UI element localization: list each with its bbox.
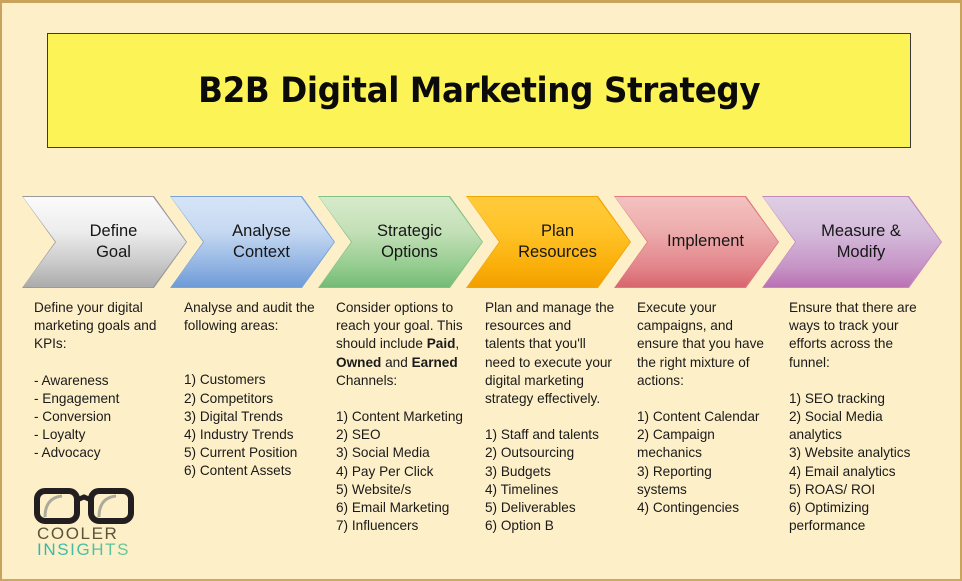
- stage-5-intro-line-1: Execute your: [637, 299, 787, 317]
- chevron-stage-6-label: Measure & Modify: [803, 221, 901, 263]
- eyeglasses-icon: COOLER INSIGHTS: [34, 487, 138, 559]
- stage-6-intro-line-3: efforts across the: [789, 335, 944, 353]
- logo-wordmark-line-2: INSIGHTS: [37, 540, 130, 559]
- list-item: analytics: [789, 426, 944, 444]
- diagram-canvas: B2B Digital Marketing Strategy Define Go…: [0, 0, 962, 581]
- stage-3-description: Consider options to reach your goal. Thi…: [336, 299, 486, 535]
- stage-5-description: Execute your campaigns, and ensure that …: [637, 299, 787, 517]
- stage-3-intro-line-1: Consider options to: [336, 299, 486, 317]
- list-item: 2) Outsourcing: [485, 444, 637, 462]
- chevron-stage-5-label: Implement: [649, 231, 744, 252]
- list-item: 6) Optimizing: [789, 499, 944, 517]
- list-item: 1) Staff and talents: [485, 426, 637, 444]
- stage-3-intro-line-3: should include Paid,: [336, 335, 486, 353]
- diagram-title-box: B2B Digital Marketing Strategy: [47, 33, 911, 148]
- stage-descriptions: Define your digital marketing goals and …: [2, 299, 962, 549]
- stage-1-intro-line-1: Define your digital: [34, 299, 184, 317]
- list-item: 5) Current Position: [184, 444, 336, 462]
- list-item: - Advocacy: [34, 444, 184, 462]
- spacer: [184, 335, 336, 371]
- chevron-stage-3-label: Strategic Options: [359, 221, 442, 263]
- list-item: 7) Influencers: [336, 517, 486, 535]
- list-item: 4) Contingencies: [637, 499, 787, 517]
- spacer: [336, 390, 486, 408]
- stage-4-intro-line-4: need to execute your: [485, 354, 637, 372]
- list-item: - Conversion: [34, 408, 184, 426]
- list-item: 4) Timelines: [485, 481, 637, 499]
- chevron-stage-6[interactable]: Measure & Modify: [762, 196, 942, 288]
- stage-3-intro-line-4: Owned and Earned: [336, 354, 486, 372]
- list-item: 5) ROAS/ ROI: [789, 481, 944, 499]
- list-item: 1) Customers: [184, 371, 336, 389]
- list-item: 5) Website/s: [336, 481, 486, 499]
- stage-1-intro-line-3: KPIs:: [34, 335, 184, 353]
- stage-5-intro-line-5: actions:: [637, 372, 787, 390]
- bold-term-owned: Owned: [336, 355, 381, 370]
- list-item: 3) Reporting: [637, 463, 787, 481]
- stage-6-intro-line-2: ways to track your: [789, 317, 944, 335]
- list-item: 2) Social Media: [789, 408, 944, 426]
- list-item: 3) Social Media: [336, 444, 486, 462]
- stage-6-description: Ensure that there are ways to track your…: [789, 299, 944, 535]
- list-item: 4) Email analytics: [789, 463, 944, 481]
- list-item: 6) Email Marketing: [336, 499, 486, 517]
- list-item: - Awareness: [34, 372, 184, 390]
- stage-2-description: Analyse and audit the following areas: 1…: [184, 299, 336, 481]
- spacer: [637, 390, 787, 408]
- chevron-stage-1[interactable]: Define Goal: [22, 196, 187, 288]
- stage-5-intro-line-4: the right mixture of: [637, 354, 787, 372]
- spacer: [34, 354, 184, 372]
- stage-4-description: Plan and manage the resources and talent…: [485, 299, 637, 535]
- stage-4-intro-line-1: Plan and manage the: [485, 299, 637, 317]
- bold-term-paid: Paid: [427, 336, 456, 351]
- stage-4-intro-line-2: resources and: [485, 317, 637, 335]
- list-item: 4) Industry Trends: [184, 426, 336, 444]
- chevron-stage-2-label: Analyse Context: [214, 221, 291, 263]
- stage-5-intro-line-3: ensure that you have: [637, 335, 787, 353]
- stage-4-intro-line-6: strategy effectively.: [485, 390, 637, 408]
- list-item: - Engagement: [34, 390, 184, 408]
- chevron-stage-5[interactable]: Implement: [614, 196, 779, 288]
- chevron-stage-4-label: Plan Resources: [500, 221, 597, 263]
- stage-4-intro-line-5: digital marketing: [485, 372, 637, 390]
- page-title: B2B Digital Marketing Strategy: [198, 71, 760, 111]
- stage-1-intro-line-2: marketing goals and: [34, 317, 184, 335]
- spacer: [789, 372, 944, 390]
- list-item: 1) SEO tracking: [789, 390, 944, 408]
- list-item: 2) Campaign: [637, 426, 787, 444]
- list-item: 4) Pay Per Click: [336, 463, 486, 481]
- brand-logo: COOLER INSIGHTS: [34, 487, 138, 559]
- list-item: mechanics: [637, 444, 787, 462]
- stage-2-intro-line-1: Analyse and audit the: [184, 299, 336, 317]
- chevron-stage-4[interactable]: Plan Resources: [466, 196, 631, 288]
- list-item: 5) Deliverables: [485, 499, 637, 517]
- spacer: [485, 408, 637, 426]
- stage-3-intro-line-2: reach your goal. This: [336, 317, 486, 335]
- stage-6-intro-line-4: funnel:: [789, 354, 944, 372]
- list-item: systems: [637, 481, 787, 499]
- list-item: performance: [789, 517, 944, 535]
- chevron-stage-3[interactable]: Strategic Options: [318, 196, 483, 288]
- bold-term-earned: Earned: [412, 355, 458, 370]
- stage-5-intro-line-2: campaigns, and: [637, 317, 787, 335]
- list-item: 1) Content Marketing: [336, 408, 486, 426]
- process-chevron-row: Define Goal Analyse Context Strategic Op…: [2, 196, 962, 288]
- list-item: 3) Digital Trends: [184, 408, 336, 426]
- list-item: 3) Website analytics: [789, 444, 944, 462]
- list-item: 2) SEO: [336, 426, 486, 444]
- chevron-stage-2[interactable]: Analyse Context: [170, 196, 335, 288]
- stage-1-description: Define your digital marketing goals and …: [34, 299, 184, 463]
- list-item: 3) Budgets: [485, 463, 637, 481]
- list-item: 1) Content Calendar: [637, 408, 787, 426]
- list-item: 6) Content Assets: [184, 462, 336, 480]
- stage-6-intro-line-1: Ensure that there are: [789, 299, 944, 317]
- stage-4-intro-line-3: talents that you'll: [485, 335, 637, 353]
- list-item: 2) Competitors: [184, 390, 336, 408]
- stage-3-intro-line-5: Channels:: [336, 372, 486, 390]
- stage-2-intro-line-2: following areas:: [184, 317, 336, 335]
- chevron-stage-1-label: Define Goal: [72, 221, 138, 263]
- list-item: - Loyalty: [34, 426, 184, 444]
- list-item: 6) Option B: [485, 517, 637, 535]
